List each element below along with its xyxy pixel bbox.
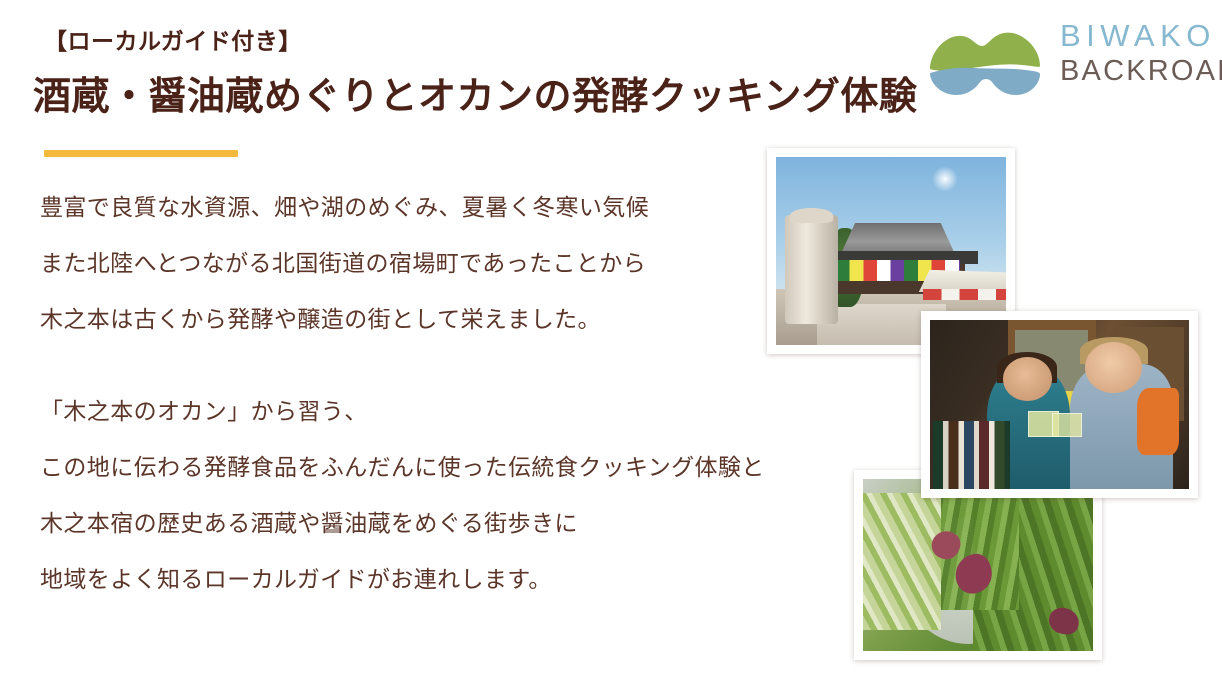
body-line: 豊富で良質な水資源、畑や湖のめぐみ、夏暑く冬寒い気候 <box>40 196 649 219</box>
eyebrow-text: 【ローカルガイド付き】 <box>44 28 302 56</box>
body-paragraph-2: 「木之本のオカン」から習う、 この地に伝わる発酵食品をふんだんに使った伝統食クッ… <box>40 400 765 624</box>
body-line: この地に伝わる発酵食品をふんだんに使った伝統食クッキング体験と <box>40 456 765 479</box>
photo-vegetables-image <box>863 479 1093 651</box>
photo-couple-image <box>930 320 1189 489</box>
brand-name-secondary: BACKROADS <box>1060 56 1210 87</box>
bottle-row <box>933 421 1011 489</box>
brand-logo: BIWAKO BACKROADS <box>924 18 1208 102</box>
title-accent-bar <box>44 150 238 157</box>
photo-couple <box>921 311 1198 498</box>
body-paragraph-1: 豊富で良質な水資源、畑や湖のめぐみ、夏暑く冬寒い気候 また北陸へとつながる北国街… <box>40 196 649 364</box>
person-right-head <box>1085 342 1142 393</box>
body-line: 「木之本のオカン」から習う、 <box>40 400 765 423</box>
photo-vegetables <box>854 470 1102 660</box>
stone-lantern-cap <box>790 208 834 223</box>
sake-glass <box>1052 413 1082 437</box>
page-title: 酒蔵・醤油蔵めぐりとオカンの発酵クッキング体験 <box>33 74 917 122</box>
slide-canvas: 【ローカルガイド付き】 酒蔵・醤油蔵めぐりとオカンの発酵クッキング体験 BIWA… <box>0 0 1222 680</box>
brand-name-primary: BIWAKO <box>1060 20 1210 53</box>
brand-wordmark: BIWAKO BACKROADS <box>1060 20 1210 87</box>
tent-stalls <box>923 289 1006 300</box>
stone-lantern <box>785 215 838 324</box>
body-line: 木之本は古くから発酵や醸造の街として栄えました。 <box>40 308 649 331</box>
orange-backpack <box>1137 388 1178 456</box>
body-line: 木之本宿の歴史ある酒蔵や醤油蔵をめぐる街歩きに <box>40 512 765 535</box>
body-line: また北陸へとつながる北国街道の宿場町であったことから <box>40 252 649 275</box>
person-left-head <box>1003 357 1052 401</box>
biwako-lake-icon <box>924 22 1048 98</box>
body-line: 地域をよく知るローカルガイドがお連れします。 <box>40 568 765 591</box>
green-stalks <box>863 493 941 631</box>
